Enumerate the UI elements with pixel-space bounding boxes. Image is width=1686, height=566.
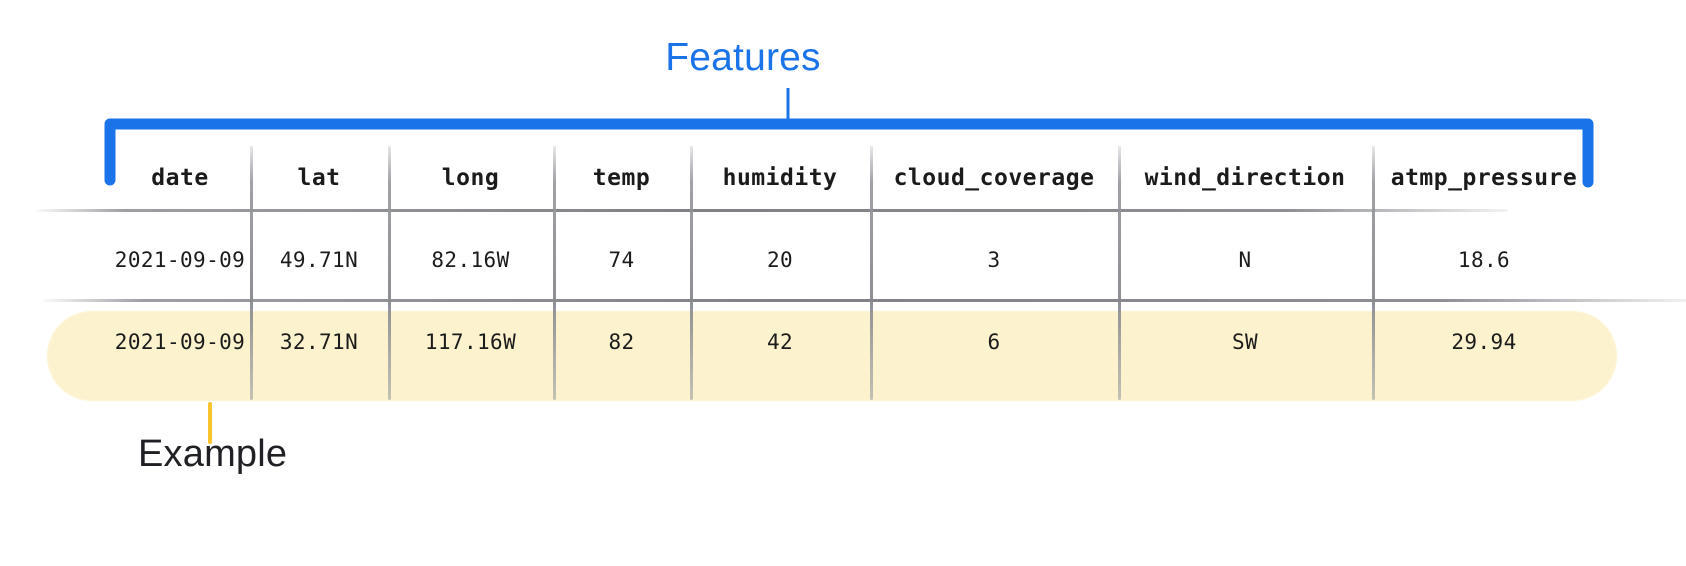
table-row: 49.71N xyxy=(250,248,388,272)
table-row: 29.94 xyxy=(1372,330,1596,354)
table-row: SW xyxy=(1118,330,1372,354)
column-header-wind-direction: wind_direction xyxy=(1118,165,1372,191)
table-row: 18.6 xyxy=(1372,248,1596,272)
column-header-atmp-pressure: atmp_pressure xyxy=(1372,165,1596,191)
column-header-date: date xyxy=(110,165,250,191)
column-header-long: long xyxy=(388,165,553,191)
table-row: 3 xyxy=(870,248,1118,272)
table-row: 32.71N xyxy=(250,330,388,354)
table-row: 82.16W xyxy=(388,248,553,272)
table-row: 82 xyxy=(553,330,690,354)
table-row: 2021-09-09 xyxy=(110,248,250,272)
table-row: 2021-09-09 xyxy=(110,330,250,354)
diagram-canvas: date lat long temp humidity cloud_covera… xyxy=(0,0,1686,566)
column-header-humidity: humidity xyxy=(690,165,870,191)
data-table: date lat long temp humidity cloud_covera… xyxy=(0,0,1686,566)
table-row: 117.16W xyxy=(388,330,553,354)
table-row: 20 xyxy=(690,248,870,272)
column-header-temp: temp xyxy=(553,165,690,191)
table-rule-header xyxy=(36,209,1508,212)
table-rule-row1 xyxy=(44,299,1686,302)
example-label: Example xyxy=(138,432,287,476)
column-header-lat: lat xyxy=(250,165,388,191)
table-row: 6 xyxy=(870,330,1118,354)
table-row: 74 xyxy=(553,248,690,272)
column-header-cloud-coverage: cloud_coverage xyxy=(870,165,1118,191)
features-label: Features xyxy=(0,36,1586,80)
table-row: 42 xyxy=(690,330,870,354)
table-row: N xyxy=(1118,248,1372,272)
